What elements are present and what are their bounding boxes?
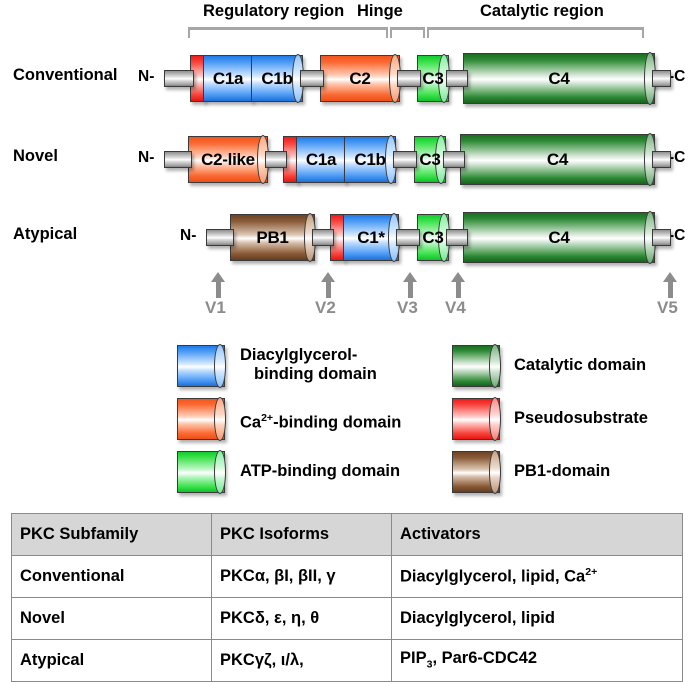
legend-label-catalytic: Catalytic domain	[514, 356, 646, 375]
linker-segment	[652, 151, 671, 168]
legend-label-line1: Diacylglycerol-	[240, 346, 357, 364]
bracket-catalytic	[427, 27, 644, 38]
domain-c4-atypical[interactable]: C4	[463, 212, 655, 263]
legend-swatch-pb1	[452, 451, 500, 493]
variable-marker-v2-label: V2	[315, 298, 336, 318]
region-label-catalytic: Catalytic region	[480, 2, 604, 21]
legend-label-line2: binding domain	[254, 365, 377, 384]
region-label-regulatory: Regulatory region	[203, 2, 344, 21]
domain-c1a-conventional[interactable]: C1a	[203, 55, 253, 102]
legend-label-atp: ATP-binding domain	[240, 462, 400, 481]
domain-c1star-atypical[interactable]: C1*	[343, 214, 399, 261]
row-label-novel: Novel	[13, 147, 58, 166]
cell-isoforms: PKCα, βI, βII, γ	[212, 556, 392, 598]
table-row: Atypical PKCγζ, ι/λ, PIP3, Par6-CDC42	[12, 640, 683, 682]
domain-label: C4	[548, 69, 569, 89]
linker-segment	[393, 151, 417, 168]
domain-label: C1b	[261, 69, 292, 89]
legend-swatch-calcium	[177, 398, 225, 440]
linker-segment	[265, 151, 287, 168]
legend-swatch-atp	[177, 451, 225, 493]
legend-label-calcium: Ca2+-binding domain	[240, 409, 401, 433]
cell-subfamily: Novel	[12, 598, 212, 640]
domain-label: C4	[547, 150, 568, 170]
linker-segment	[164, 70, 194, 87]
domain-c3-conventional[interactable]: C3	[417, 55, 449, 102]
pkc-summary-table: PKC Subfamily PKC Isoforms Activators Co…	[11, 513, 683, 682]
domain-pb1-atypical[interactable]: PB1	[230, 214, 315, 261]
domain-label: C1a	[213, 69, 243, 89]
linker-segment	[446, 229, 468, 246]
cell-activators: Diacylglycerol, lipid	[392, 598, 683, 640]
n-terminus-novel: N-	[138, 149, 154, 167]
table-header-row: PKC Subfamily PKC Isoforms Activators	[12, 514, 683, 556]
linker-segment	[396, 229, 420, 246]
region-label-hinge: Hinge	[357, 2, 403, 21]
domain-label: C1*	[357, 228, 384, 248]
domain-label: C1b	[354, 150, 385, 170]
linker-segment	[206, 229, 234, 246]
table-row: Conventional PKCα, βI, βII, γ Diacylglyc…	[12, 556, 683, 598]
cell-isoforms: PKCδ, ε, η, θ	[212, 598, 392, 640]
legend-label-pb1: PB1-domain	[514, 462, 610, 481]
cell-isoforms: PKCγζ, ι/λ,	[212, 640, 392, 682]
legend-label-pseudosubstrate: Pseudosubstrate	[514, 409, 648, 428]
legend-swatch-diacylglycerol	[177, 345, 225, 387]
domain-c2-conventional[interactable]: C2	[320, 55, 400, 102]
domain-label: C2	[349, 69, 370, 89]
domain-c3-atypical[interactable]: C3	[417, 214, 449, 261]
linker-segment	[443, 151, 465, 168]
linker-segment	[446, 70, 468, 87]
domain-c3-novel[interactable]: C3	[414, 136, 446, 183]
domain-c1b-conventional[interactable]: C1b	[251, 55, 303, 102]
legend-swatch-pseudosubstrate	[452, 398, 500, 440]
cell-activators: PIP3, Par6-CDC42	[392, 640, 683, 682]
linker-segment	[652, 229, 671, 246]
variable-marker-v1-label: V1	[205, 298, 226, 318]
legend-label-diacylglycerol: Diacylglycerol- binding domain	[240, 346, 377, 384]
domain-label: PB1	[256, 228, 288, 248]
bracket-regulatory	[188, 27, 388, 38]
domain-label: C2-like	[201, 150, 255, 170]
linker-segment	[164, 151, 192, 168]
n-terminus-atypical: N-	[180, 227, 196, 245]
domain-c4-novel[interactable]: C4	[460, 134, 655, 185]
domain-c1a-novel[interactable]: C1a	[296, 136, 346, 183]
cell-activators: Diacylglycerol, lipid, Ca2+	[392, 556, 683, 598]
n-terminus-conventional: N-	[138, 68, 154, 86]
c-terminus-atypical: -C	[669, 227, 685, 245]
domain-label: C4	[548, 228, 569, 248]
cell-subfamily: Atypical	[12, 640, 212, 682]
linker-segment	[300, 70, 324, 87]
table-header-activators: Activators	[392, 514, 683, 556]
c-terminus-novel: -C	[669, 149, 685, 167]
table-row: Novel PKCδ, ε, η, θ Diacylglycerol, lipi…	[12, 598, 683, 640]
table-header-isoforms: PKC Isoforms	[212, 514, 392, 556]
bracket-hinge	[390, 27, 425, 38]
linker-segment	[397, 70, 421, 87]
c-terminus-conventional: -C	[669, 68, 685, 86]
variable-marker-v5-label: V5	[657, 298, 678, 318]
domain-c2like-novel[interactable]: C2-like	[188, 136, 268, 183]
cell-subfamily: Conventional	[12, 556, 212, 598]
variable-marker-v3-label: V3	[397, 298, 418, 318]
linker-segment	[652, 70, 671, 87]
row-label-atypical: Atypical	[13, 225, 77, 244]
domain-c4-conventional[interactable]: C4	[463, 53, 655, 104]
domain-c1b-novel[interactable]: C1b	[344, 136, 396, 183]
legend-swatch-catalytic	[452, 345, 500, 387]
linker-segment	[312, 229, 334, 246]
variable-marker-v4-label: V4	[445, 298, 466, 318]
domain-label: C1a	[306, 150, 336, 170]
row-label-conventional: Conventional	[13, 66, 118, 85]
table-header-subfamily: PKC Subfamily	[12, 514, 212, 556]
